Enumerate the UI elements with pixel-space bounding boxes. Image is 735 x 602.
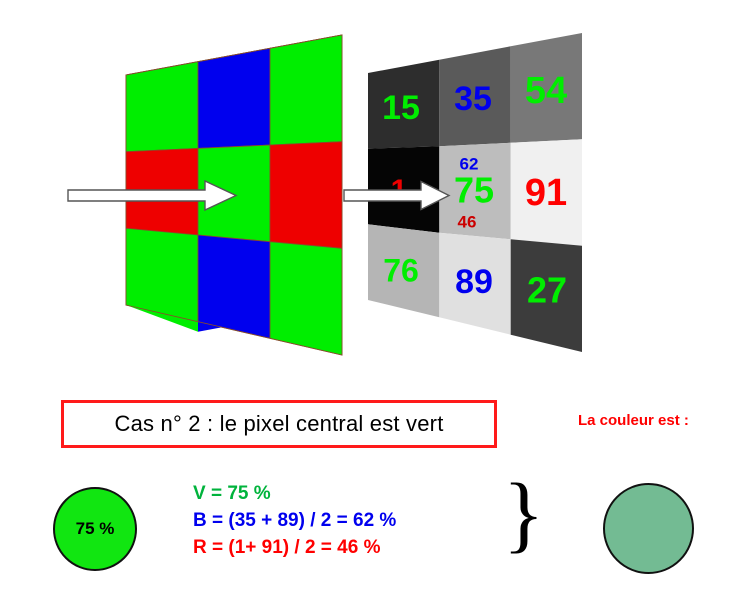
case-caption-text: Cas n° 2 : le pixel central est vert	[114, 411, 443, 437]
formula-line-r: R = (1+ 91) / 2 = 46 %	[193, 534, 483, 561]
channel-formulas: V = 75 % B = (35 + 89) / 2 = 62 % R = (1…	[193, 480, 483, 561]
formula-line-b: B = (35 + 89) / 2 = 62 %	[193, 507, 483, 534]
source-color-disc-label: 75 %	[76, 519, 115, 539]
formula-line-v: V = 75 %	[193, 480, 483, 507]
case-caption-box: Cas n° 2 : le pixel central est vert	[61, 400, 497, 448]
result-color-disc	[603, 483, 694, 574]
closing-brace: }	[503, 470, 544, 556]
arrow-into-source-grid	[68, 181, 236, 210]
result-color-label: La couleur est :	[578, 412, 689, 429]
source-color-disc: 75 %	[53, 487, 137, 571]
illustration-stage: 15 35 54 1 75 91 76 89 27 62 46 Cas n° 2…	[0, 0, 735, 602]
arrow-into-value-grid	[344, 182, 449, 210]
